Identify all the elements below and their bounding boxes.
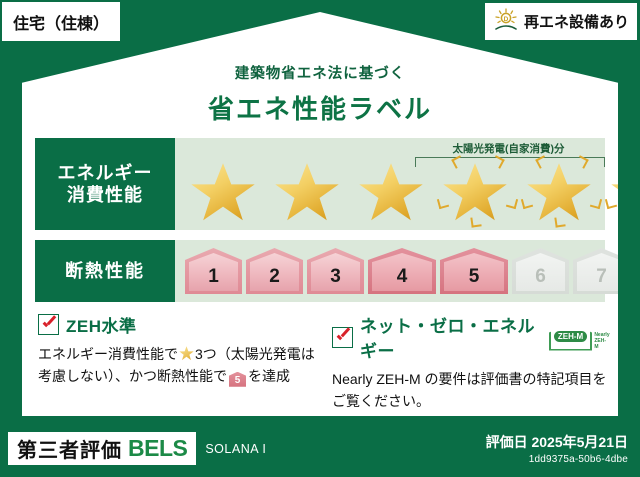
star-icon [274, 162, 340, 224]
bels-logo-text: BELS [128, 435, 187, 462]
sparkle-icon [506, 197, 518, 209]
sparkle-icon [605, 197, 617, 209]
insulation-performance-row: 断熱性能 1 2 3 4 5 6 7 [35, 240, 605, 302]
sparkle-icon [451, 155, 465, 169]
star-icon [358, 162, 424, 224]
energy-rating-area: 太陽光発電(自家消費)分 [175, 138, 605, 230]
star-icon [526, 162, 592, 224]
page-title: 省エネ性能ラベル [22, 89, 618, 126]
star-item-solar [519, 154, 603, 228]
zeh-m-house-icon: ZEH-M [549, 324, 593, 351]
sparkle-icon [470, 216, 481, 227]
sparkle-icon [619, 155, 633, 169]
star-rating [175, 154, 605, 228]
insulation-scale: 1 2 3 4 5 6 7 [175, 240, 605, 302]
zeh-m-sub-line2: ZEH-M [594, 338, 606, 350]
insulation-level: 1 [185, 248, 242, 294]
insulation-level: 7 [573, 248, 630, 294]
zeh-m-sublabel: Nearly ZEH-M [594, 333, 610, 350]
star-icon [190, 162, 256, 224]
renewable-equipment-text: 再エネ設備あり [524, 11, 629, 32]
level-number: 6 [535, 266, 546, 294]
energy-performance-row: エネルギー 消費性能 太陽光発電(自家消費)分 [35, 138, 605, 230]
star-item [351, 154, 435, 228]
document-id: 1dd9375a-50b6-4dbe [486, 454, 628, 465]
energy-label-line1: エネルギー [58, 162, 153, 185]
zeh-text-1: エネルギー消費性能で [38, 346, 178, 362]
title-subtitle: 建築物省エネ法に基づく [22, 62, 618, 83]
sparkle-icon [437, 197, 449, 209]
net-zero-energy-block: ネット・ゼロ・エネルギー ZEH-M Nearly ZEH-M Nearly Z… [332, 312, 610, 412]
net-zero-energy-header: ネット・ゼロ・エネルギー ZEH-M Nearly ZEH-M [332, 312, 610, 362]
house-badge-icon: 5 [229, 372, 246, 387]
sparkle-icon [590, 197, 602, 209]
zeh-standard-header: ZEH水準 [38, 312, 320, 337]
footer-bar: 第三者評価 BELS SOLANA I 評価日 2025年5月21日 1dd93… [0, 420, 640, 477]
house-type-chip: 住宅（住棟） [2, 2, 120, 41]
insulation-label-block: 断熱性能 [35, 240, 175, 302]
insulation-label-text: 断熱性能 [65, 260, 145, 283]
building-name: SOLANA I [205, 442, 266, 456]
zeh-text-4: を達成 [248, 368, 290, 384]
zeh-text-2: 3つ（太陽光発電 [195, 346, 301, 362]
net-zero-energy-text: Nearly ZEH-M の要件は評価書の特記項目をご覧ください。 [332, 369, 610, 412]
star-item-solar [603, 154, 640, 228]
renewable-equipment-chip: D 再エネ設備あり [485, 3, 637, 40]
sparkle-icon [554, 216, 565, 227]
label-panel: 建築物省エネ法に基づく 省エネ性能ラベル エネルギー 消費性能 太陽光発電(自家… [22, 12, 618, 416]
level-number: 2 [269, 266, 280, 294]
sparkle-icon [535, 155, 549, 169]
zeh-standard-title: ZEH水準 [66, 312, 137, 337]
energy-label-line2: 消費性能 [67, 184, 143, 207]
insulation-level: 6 [512, 248, 569, 294]
zeh-m-logo: ZEH-M Nearly ZEH-M [549, 324, 610, 351]
bels-badge: 第三者評価 BELS [8, 432, 196, 465]
insulation-level: 5 [440, 248, 508, 294]
evaluation-info: 評価日 2025年5月21日 1dd9375a-50b6-4dbe [486, 432, 628, 465]
check-icon [332, 327, 353, 348]
star-icon [610, 162, 640, 224]
evaluation-date: 評価日 2025年5月21日 [486, 432, 628, 452]
check-icon [38, 314, 59, 335]
star-item-solar [435, 154, 519, 228]
star-item [267, 154, 351, 228]
star-item [183, 154, 267, 228]
sparkle-icon [491, 155, 505, 169]
star-icon [442, 162, 508, 224]
insulation-level: 3 [307, 248, 364, 294]
solar-sun-icon: D [493, 8, 519, 36]
third-party-eval-text: 第三者評価 [17, 434, 122, 463]
house-type-text: 住宅（住棟） [13, 10, 109, 34]
svg-text:D: D [504, 16, 509, 23]
insulation-rating-area: 1 2 3 4 5 6 7 [175, 240, 605, 302]
star-icon [179, 346, 194, 361]
insulation-level: 4 [368, 248, 436, 294]
sparkle-icon [575, 155, 589, 169]
zeh-standard-text: エネルギー消費性能で3つ（太陽光発電は考慮しない）、かつ断熱性能で5を達成 [38, 344, 320, 387]
zeh-standard-block: ZEH水準 エネルギー消費性能で3つ（太陽光発電は考慮しない）、かつ断熱性能で5… [38, 312, 320, 387]
level-number: 7 [596, 266, 607, 294]
level-number: 3 [330, 266, 341, 294]
level-number: 4 [397, 266, 408, 294]
insulation-level: 2 [246, 248, 303, 294]
energy-performance-label-block: エネルギー 消費性能 [35, 138, 175, 230]
net-zero-energy-title: ネット・ゼロ・エネルギー [360, 312, 538, 362]
sparkle-icon [521, 197, 533, 209]
title-block: 建築物省エネ法に基づく 省エネ性能ラベル [22, 62, 618, 126]
level-number: 5 [469, 266, 480, 294]
energy-performance-label: 住宅（住棟） D 再エネ設備あり 建築 [0, 0, 640, 477]
zeh-m-pill: ZEH-M [554, 331, 587, 342]
level-number: 1 [208, 266, 219, 294]
